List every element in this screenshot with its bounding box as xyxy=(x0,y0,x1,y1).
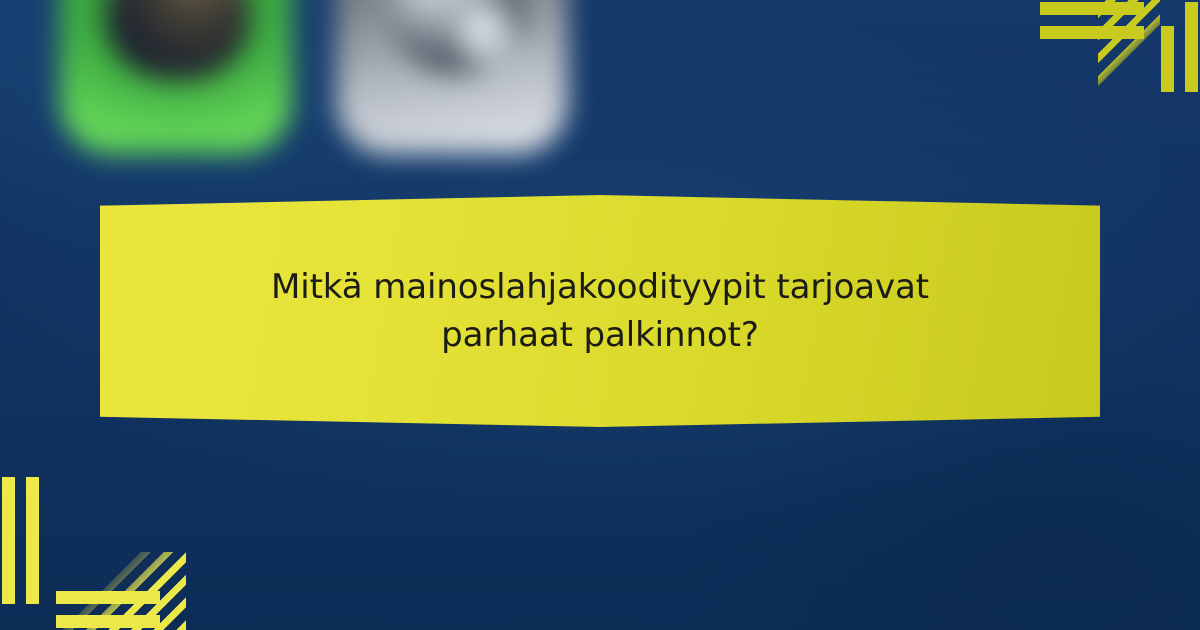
promo-card: Mitkä mainoslahjakoodityypit tarjoavat p… xyxy=(0,0,1200,630)
bracket-bar-vertical-inner xyxy=(1161,26,1174,92)
app-icon-grey xyxy=(336,0,568,154)
app-icon-green xyxy=(60,0,292,154)
bracket-hatch-stripes xyxy=(6,552,186,630)
bracket-bar-vertical-outer xyxy=(1185,2,1198,92)
question-banner: Mitkä mainoslahjakoodityypit tarjoavat p… xyxy=(100,195,1100,427)
question-text: Mitkä mainoslahjakoodityypit tarjoavat p… xyxy=(100,195,1100,427)
corner-bracket-bottom-left xyxy=(0,475,160,630)
bracket-hatch-stripes xyxy=(1098,0,1160,92)
corner-bracket-top-right xyxy=(1040,0,1200,92)
blurred-app-icon-row xyxy=(60,0,568,154)
